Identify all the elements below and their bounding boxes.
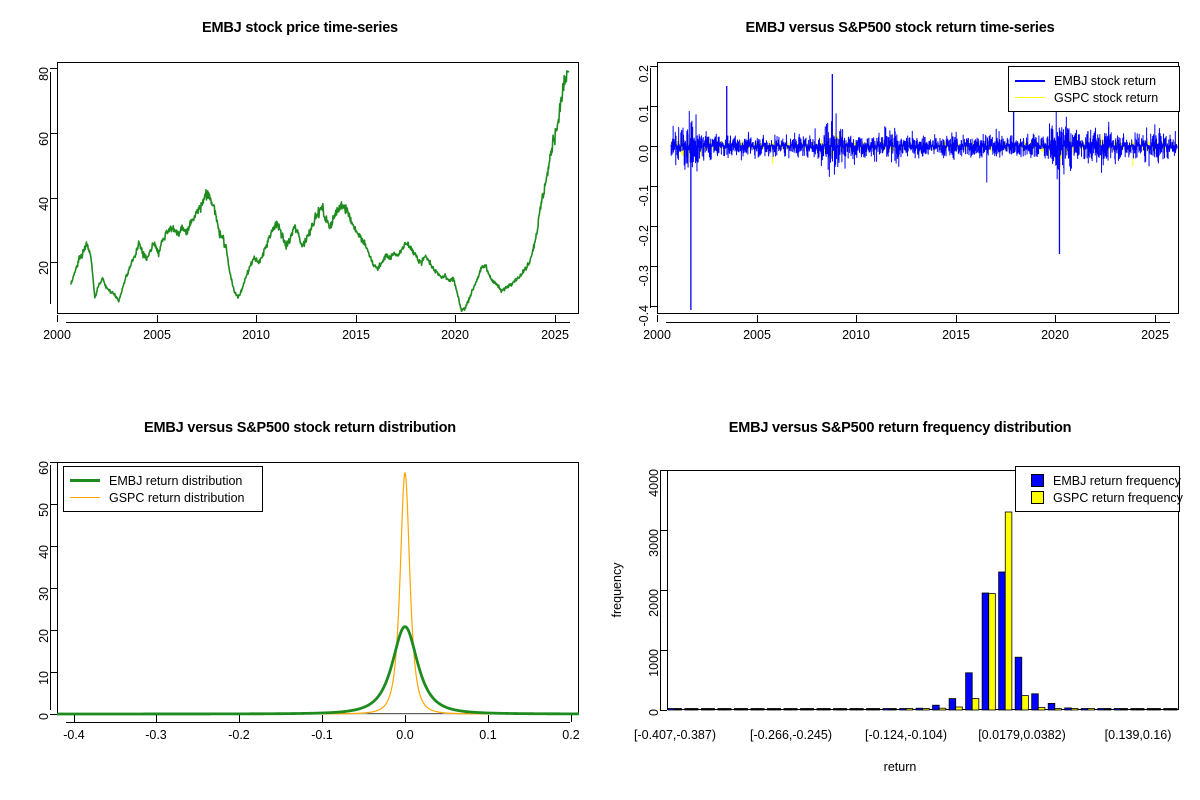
axis-tick-mark (650, 226, 657, 227)
legend-item: GSPC stock return (1015, 89, 1171, 106)
axis-tick-mark (356, 315, 357, 322)
axis-tick-label: 0.1 (637, 105, 651, 141)
axis-tick-mark (322, 715, 323, 722)
panel-returns-xaxis (666, 322, 1170, 323)
axis-tick-mark (50, 462, 57, 463)
axis-tick-label: 0.2 (546, 728, 596, 742)
axis-tick-label: 3000 (647, 529, 661, 575)
axis-tick-label: 2010 (831, 328, 881, 342)
axis-tick-mark (239, 715, 240, 722)
axis-tick-label: 10 (37, 671, 51, 697)
panel-price: EMBJ stock price time-series 20406080 20… (0, 0, 600, 400)
axis-tick-label: 2000 (647, 589, 661, 635)
legend-line-swatch (70, 479, 100, 482)
axis-tick-mark (660, 530, 667, 531)
axis-tick-mark (50, 198, 57, 199)
axis-tick-label: [0.139,0.16) (1078, 728, 1198, 742)
axis-tick-label: [0.0179,0.0382) (962, 728, 1082, 742)
axis-tick-mark (650, 106, 657, 107)
axis-tick-label: 30 (37, 587, 51, 613)
axis-tick-mark (488, 715, 489, 722)
panel-histogram: EMBJ versus S&P500 return frequency dist… (600, 400, 1200, 800)
axis-tick-label: 2020 (430, 328, 480, 342)
axis-tick-mark (50, 68, 57, 69)
axis-tick-mark (660, 470, 667, 471)
axis-tick-mark (856, 315, 857, 322)
legend-label: EMBJ return distribution (109, 474, 242, 488)
axis-tick-label: -0.3 (131, 728, 181, 742)
axis-tick-label: 2015 (931, 328, 981, 342)
axis-tick-label: [-0.266,-0.245) (731, 728, 851, 742)
legend-item: GSPC return distribution (70, 489, 254, 506)
axis-tick-label: -0.1 (297, 728, 347, 742)
axis-tick-mark (650, 186, 657, 187)
axis-tick-mark (156, 715, 157, 722)
legend-item: GSPC return frequency (1022, 489, 1171, 506)
axis-tick-label: 0.0 (380, 728, 430, 742)
axis-tick-mark (405, 715, 406, 722)
axis-tick-mark (1155, 315, 1156, 322)
axis-tick-label: -0.4 (49, 728, 99, 742)
panel-returns-legend: EMBJ stock return GSPC stock return (1008, 66, 1180, 112)
legend-item: EMBJ return frequency (1022, 472, 1171, 489)
axis-tick-label: 0.0 (637, 145, 651, 181)
legend-item: EMBJ return distribution (70, 472, 254, 489)
axis-tick-label: [-0.407,-0.387) (615, 728, 735, 742)
axis-tick-label: 60 (37, 461, 51, 487)
axis-tick-label: -0.3 (637, 265, 651, 301)
legend-label: EMBJ return frequency (1053, 474, 1181, 488)
axis-tick-label: -0.2 (214, 728, 264, 742)
axis-tick-label: 0.2 (637, 65, 651, 101)
axis-tick-label: 2000 (632, 328, 682, 342)
axis-tick-mark (660, 650, 667, 651)
axis-tick-label: 2010 (231, 328, 281, 342)
axis-tick-label: 20 (37, 261, 51, 287)
axis-tick-mark (57, 315, 58, 322)
axis-tick-mark (50, 546, 57, 547)
axis-tick-mark (1055, 315, 1056, 322)
axis-tick-label: -0.1 (637, 185, 651, 221)
axis-tick-label: 60 (37, 132, 51, 158)
axis-tick-label: 20 (37, 629, 51, 655)
panel-returns-canvas (600, 0, 1200, 400)
axis-tick-mark (650, 266, 657, 267)
axis-tick-mark (657, 315, 658, 322)
panel-histogram-legend: EMBJ return frequency GSPC return freque… (1015, 466, 1180, 512)
legend-label: EMBJ stock return (1054, 74, 1156, 88)
axis-tick-label: 2000 (32, 328, 82, 342)
axis-tick-label: 2015 (331, 328, 381, 342)
panel-price-canvas (0, 0, 600, 400)
axis-tick-mark (50, 588, 57, 589)
legend-square-swatch (1031, 474, 1044, 487)
axis-tick-label: 80 (37, 67, 51, 93)
axis-tick-mark (455, 315, 456, 322)
axis-tick-label: 2020 (1030, 328, 1080, 342)
axis-tick-mark (50, 714, 57, 715)
panel-histogram-ylabel: frequency (610, 555, 624, 625)
axis-tick-label: 1000 (647, 649, 661, 695)
axis-tick-mark (650, 306, 657, 307)
axis-tick-label: 40 (37, 197, 51, 223)
axis-tick-label: 50 (37, 503, 51, 529)
legend-line-swatch (1015, 80, 1045, 82)
axis-tick-mark (50, 504, 57, 505)
axis-tick-mark (256, 315, 257, 322)
axis-tick-mark (50, 262, 57, 263)
axis-tick-label: [-0.124,-0.104) (846, 728, 966, 742)
axis-tick-mark (157, 315, 158, 322)
legend-square-swatch (1031, 491, 1044, 504)
legend-line-swatch (1015, 97, 1045, 98)
axis-tick-mark (50, 672, 57, 673)
axis-tick-mark (50, 630, 57, 631)
axis-tick-label: 0.1 (463, 728, 513, 742)
panel-density: EMBJ versus S&P500 stock return distribu… (0, 400, 600, 800)
axis-tick-label: -0.2 (637, 225, 651, 261)
panel-density-xaxis (66, 722, 570, 723)
panel-returns: EMBJ versus S&P500 stock return time-ser… (600, 0, 1200, 400)
legend-item: EMBJ stock return (1015, 72, 1171, 89)
legend-label: GSPC stock return (1054, 91, 1158, 105)
axis-tick-mark (660, 590, 667, 591)
legend-line-swatch (70, 497, 100, 498)
axis-tick-mark (650, 146, 657, 147)
axis-tick-label: 4000 (647, 469, 661, 515)
axis-tick-label: 2025 (1130, 328, 1180, 342)
panel-histogram-xlabel: return (600, 760, 1200, 774)
figure-grid: EMBJ stock price time-series 20406080 20… (0, 0, 1200, 800)
axis-tick-label: 40 (37, 545, 51, 571)
axis-tick-label: 2005 (132, 328, 182, 342)
axis-tick-mark (50, 133, 57, 134)
axis-tick-label: 2005 (732, 328, 782, 342)
panel-density-legend: EMBJ return distribution GSPC return dis… (63, 466, 263, 512)
axis-tick-label: 2025 (530, 328, 580, 342)
legend-label: GSPC return frequency (1053, 491, 1183, 505)
axis-tick-mark (571, 715, 572, 722)
axis-tick-mark (956, 315, 957, 322)
axis-tick-mark (650, 66, 657, 67)
axis-tick-mark (555, 315, 556, 322)
axis-tick-mark (757, 315, 758, 322)
axis-tick-mark (74, 715, 75, 722)
panel-price-xaxis (66, 322, 570, 323)
legend-label: GSPC return distribution (109, 491, 244, 505)
axis-tick-mark (660, 710, 667, 711)
